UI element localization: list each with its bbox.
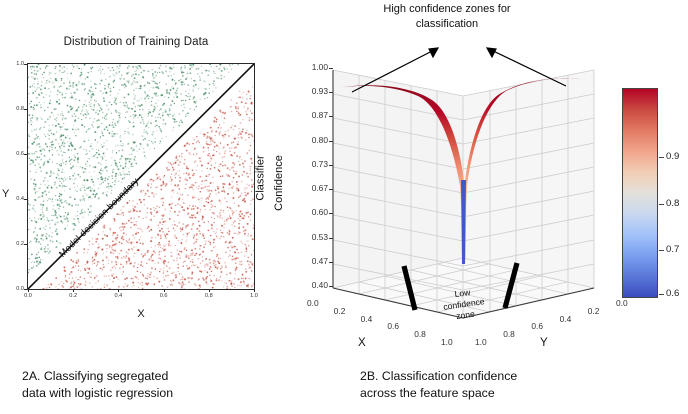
caption-2a-line2: data with logistic regression (22, 385, 272, 402)
panel-a-xlabel: X (27, 308, 255, 320)
caption-2a-line1: 2A. Classifying segregated (22, 368, 272, 385)
panel-2a: Distribution of Training Data Model deci… (0, 36, 272, 306)
colorbar (622, 88, 658, 298)
panel-b-zlabel-line1: Classifier (255, 155, 267, 200)
caption-2b-line2: across the feature space (360, 385, 640, 402)
panel-b-xlabel: X (358, 337, 366, 349)
figure-canvas: Distribution of Training Data Model deci… (0, 0, 688, 414)
panel-b-zlabel-line2: Confidence (273, 155, 285, 211)
panel-a-title: Distribution of Training Data (0, 36, 272, 48)
low-conf-line3: zone (456, 309, 476, 321)
high-confidence-annotation: High confidence zones for classification (378, 2, 516, 32)
caption-2b-line1: 2B. Classification confidence (360, 368, 640, 385)
caption-2b: 2B. Classification confidence across the… (360, 368, 640, 401)
panel-b-ylabel: Y (540, 337, 548, 349)
caption-2a: 2A. Classifying segregated data with log… (22, 368, 272, 401)
